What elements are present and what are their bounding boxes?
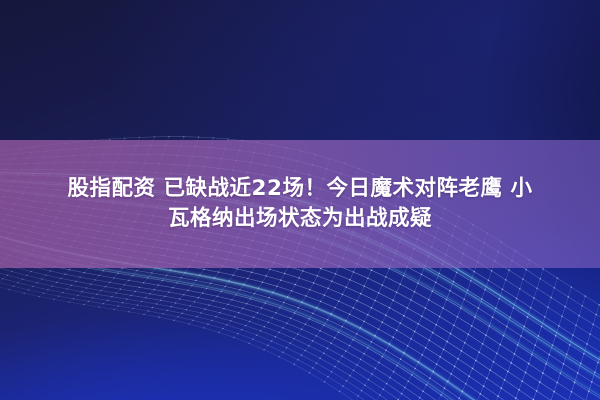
- headline-line-1: 股指配资 已缺战近22场！今日魔术对阵老鹰 小: [18, 174, 582, 204]
- headline-text: 股指配资 已缺战近22场！今日魔术对阵老鹰 小 瓦格纳出场状态为出战成疑: [0, 174, 600, 233]
- banner-image: 股指配资 已缺战近22场！今日魔术对阵老鹰 小 瓦格纳出场状态为出战成疑: [0, 0, 600, 400]
- headline-line-2: 瓦格纳出场状态为出战成疑: [18, 204, 582, 234]
